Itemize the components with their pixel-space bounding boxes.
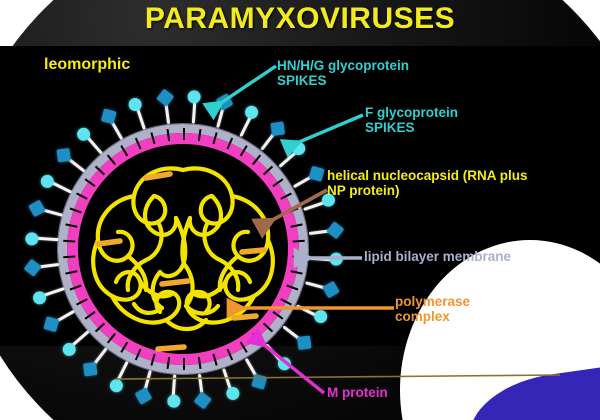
spike-head-round: [166, 394, 180, 408]
label-m-protein: M protein: [327, 385, 388, 400]
helical-nucleocapsid-coil: [38, 104, 328, 394]
page-title: PARAMYXOVIRUSES: [0, 2, 600, 36]
spike-head-diamond: [57, 148, 72, 163]
label-f-glycoprotein: F glycoprotein SPIKES: [365, 105, 458, 135]
label-lipid-bilayer: lipid bilayer membrane: [364, 249, 511, 264]
slide-canvas: PARAMYXOVIRUSES: [0, 0, 600, 420]
label-polymerase-complex: polymerase complex: [395, 294, 470, 324]
spike-head-round: [25, 231, 39, 245]
spike-head-diamond: [83, 362, 98, 377]
label-hn-glycoprotein: HN/H/G glycoprotein SPIKES: [277, 58, 409, 88]
label-helical-nucleocapsid: helical nucleocapsid (RNA plus NP protei…: [327, 168, 528, 198]
spike-head-diamond: [271, 122, 286, 137]
label-pleomorphic: leomorphic: [44, 56, 130, 74]
virion-particle: [38, 104, 328, 394]
spike-head-diamond: [297, 336, 312, 351]
